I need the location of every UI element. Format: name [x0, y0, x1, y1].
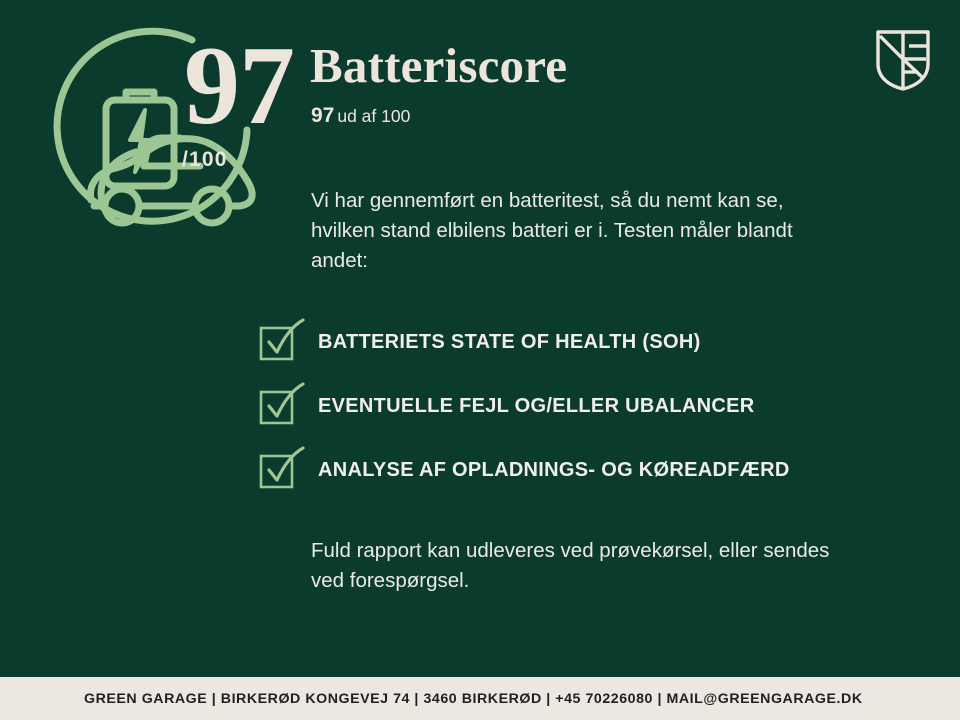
checklist-item-label: EVENTUELLE FEJL OG/ELLER UBALANCER [318, 395, 755, 418]
score-subtitle-suffix: ud af 100 [337, 106, 410, 126]
checkbox-checked-icon [258, 325, 302, 359]
score-subtitle: 97ud af 100 [311, 103, 410, 129]
green-garage-shield-logo [874, 28, 932, 92]
battery-score-infographic: 97 /100 Batteriscore 97ud af 100 Vi har … [0, 0, 960, 720]
list-item: EVENTUELLE FEJL OG/ELLER UBALANCER [258, 374, 898, 438]
badge-score-number: 97 [184, 30, 294, 142]
checkbox-checked-icon [258, 453, 302, 487]
footer-bar: GREEN GARAGE | BIRKERØD KONGEVEJ 74 | 34… [0, 677, 960, 720]
checklist-item-label: BATTERIETS STATE OF HEALTH (SOH) [318, 331, 701, 354]
list-item: BATTERIETS STATE OF HEALTH (SOH) [258, 310, 898, 374]
intro-paragraph: Vi har gennemført en batteritest, så du … [311, 186, 851, 276]
checklist-item-label: ANALYSE AF OPLADNINGS- OG KØREADFÆRD [318, 459, 790, 482]
outro-paragraph: Fuld rapport kan udleveres ved prøvekørs… [311, 536, 856, 596]
checklist: BATTERIETS STATE OF HEALTH (SOH) EVENTUE… [258, 310, 898, 502]
shield-icon [874, 28, 932, 92]
page-title: Batteriscore [310, 40, 567, 93]
list-item: ANALYSE AF OPLADNINGS- OG KØREADFÆRD [258, 438, 898, 502]
footer-contact-text: GREEN GARAGE | BIRKERØD KONGEVEJ 74 | 34… [84, 691, 863, 707]
checkbox-checked-icon [258, 389, 302, 423]
score-subtitle-number: 97 [311, 104, 334, 127]
badge-score-outof: /100 [182, 148, 228, 172]
battery-score-badge: 97 /100 [44, 22, 294, 242]
